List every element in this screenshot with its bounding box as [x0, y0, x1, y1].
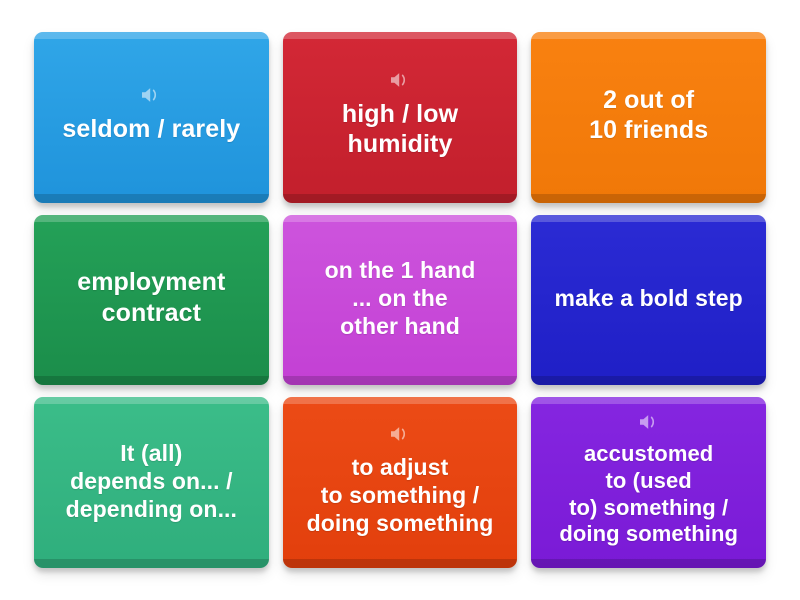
- flashcard-label: It (all) depends on... / depending on...: [66, 439, 237, 523]
- flashcard-board: seldom / rarelyhigh / low humidity2 out …: [0, 0, 800, 600]
- flashcard-content: make a bold step: [543, 284, 754, 312]
- speaker-icon[interactable]: [389, 71, 411, 89]
- flashcard-tile[interactable]: make a bold step: [531, 215, 766, 386]
- flashcard-content: employment contract: [46, 267, 257, 328]
- flashcard-label: make a bold step: [555, 284, 743, 312]
- flashcard-tile[interactable]: to adjust to something / doing something: [283, 397, 518, 568]
- flashcard-label: to adjust to something / doing something: [307, 453, 494, 537]
- flashcard-label: 2 out of 10 friends: [589, 85, 708, 146]
- flashcard-content: high / low humidity: [295, 71, 506, 160]
- speaker-icon[interactable]: [389, 425, 411, 443]
- flashcard-label: high / low humidity: [342, 99, 458, 160]
- flashcard-label: accustomed to (used to) something / doin…: [559, 441, 738, 548]
- flashcard-content: to adjust to something / doing something: [295, 425, 506, 537]
- flashcard-label: seldom / rarely: [62, 114, 240, 145]
- flashcard-tile[interactable]: seldom / rarely: [34, 32, 269, 203]
- flashcard-tile[interactable]: accustomed to (used to) something / doin…: [531, 397, 766, 568]
- flashcard-label: on the 1 hand ... on the other hand: [325, 256, 476, 340]
- flashcard-content: on the 1 hand ... on the other hand: [295, 256, 506, 340]
- flashcard-content: seldom / rarely: [46, 86, 257, 145]
- flashcard-label: employment contract: [77, 267, 225, 328]
- flashcard-content: accustomed to (used to) something / doin…: [543, 413, 754, 548]
- flashcard-tile[interactable]: 2 out of 10 friends: [531, 32, 766, 203]
- speaker-icon[interactable]: [638, 413, 660, 431]
- flashcard-content: It (all) depends on... / depending on...: [46, 439, 257, 523]
- flashcard-tile[interactable]: It (all) depends on... / depending on...: [34, 397, 269, 568]
- flashcard-tile[interactable]: on the 1 hand ... on the other hand: [283, 215, 518, 386]
- speaker-icon[interactable]: [140, 86, 162, 104]
- flashcard-tile[interactable]: high / low humidity: [283, 32, 518, 203]
- flashcard-tile[interactable]: employment contract: [34, 215, 269, 386]
- flashcard-content: 2 out of 10 friends: [543, 85, 754, 146]
